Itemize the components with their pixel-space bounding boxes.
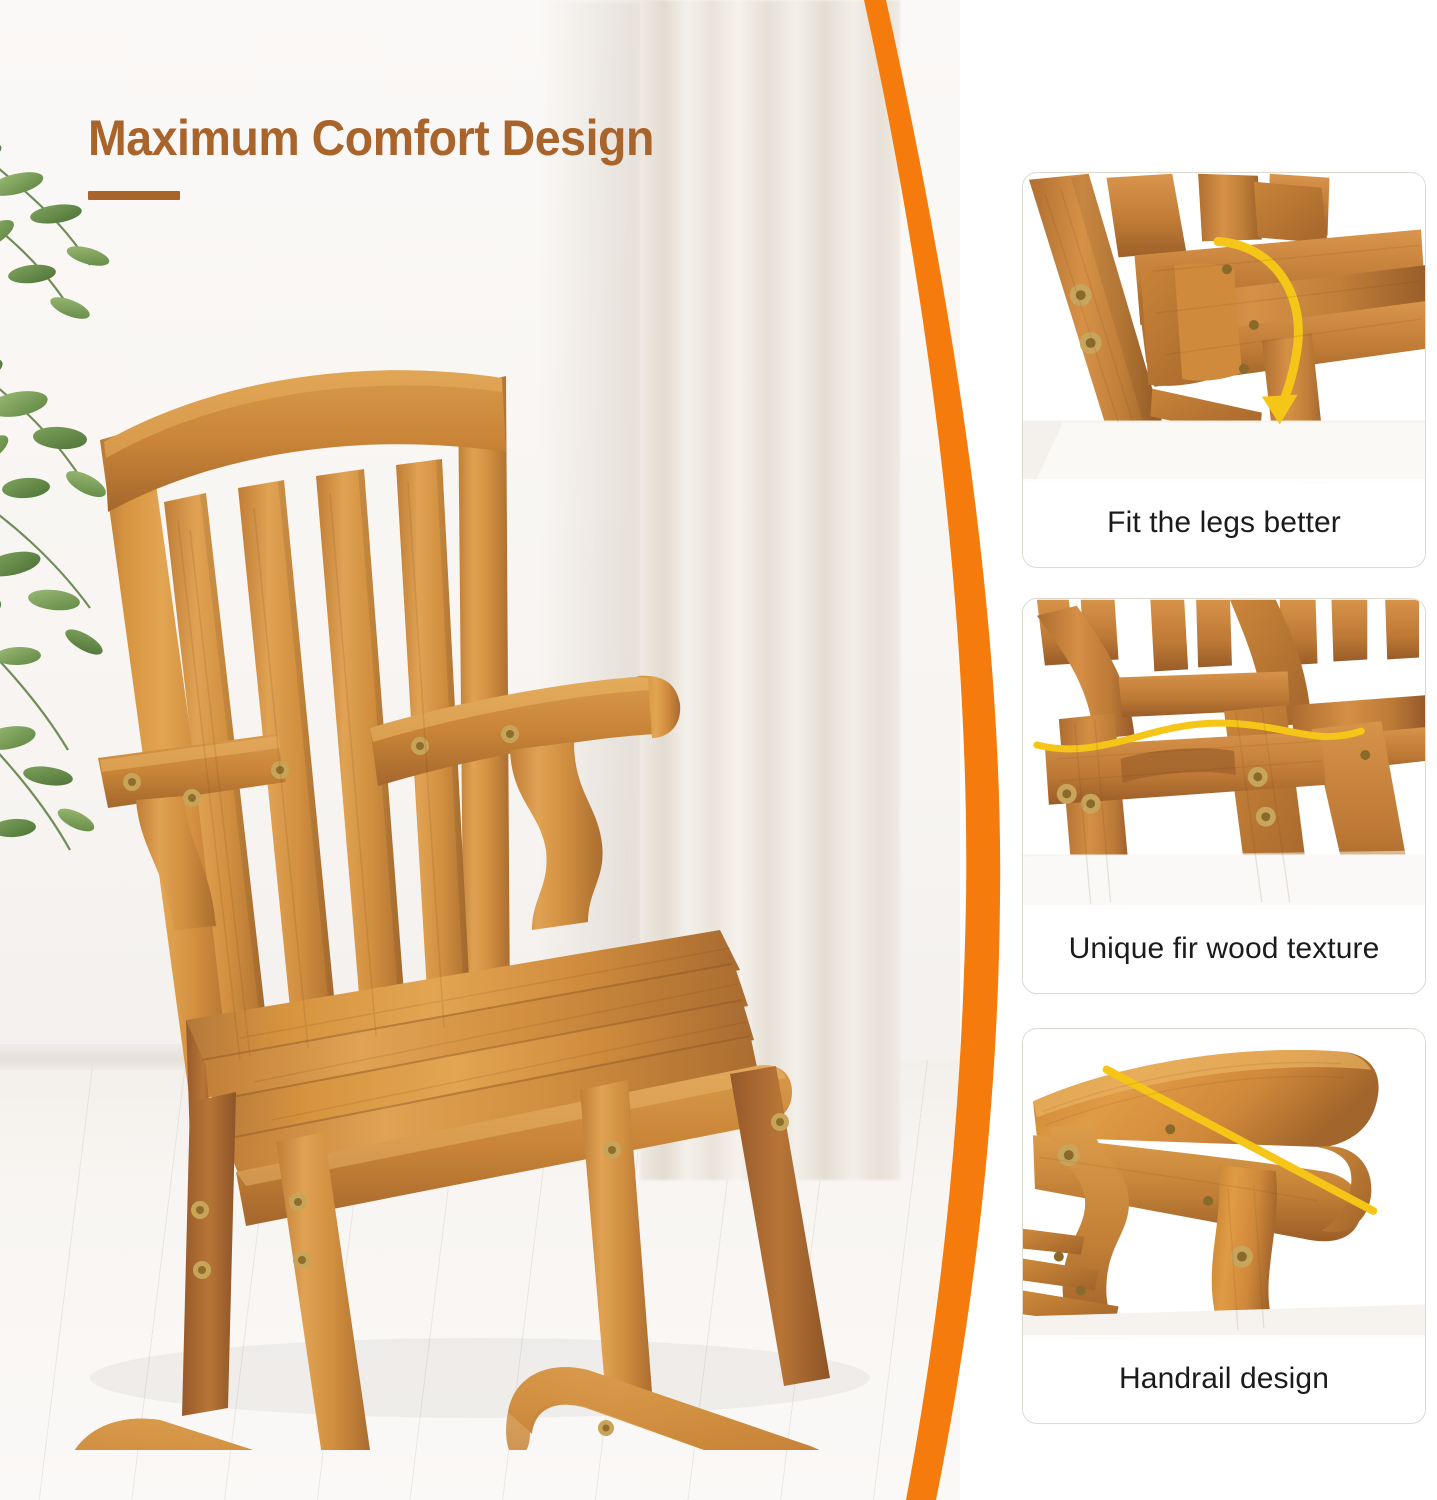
feature-card-handrail-design[interactable]: Handrail design <box>1022 1028 1426 1424</box>
card-photo-leg-joint <box>1023 173 1425 483</box>
card-caption-fit-the-legs-better: Fit the legs better <box>1023 479 1425 567</box>
feature-card-fit-the-legs-better[interactable]: Fit the legs better <box>1022 172 1426 568</box>
feature-card-unique-fir-wood-texture[interactable]: Unique fir wood texture <box>1022 598 1426 994</box>
card-photo-fir-wood-texture <box>1023 599 1425 909</box>
feature-card-column: Fit the legs better <box>1022 0 1426 1500</box>
product-feature-poster: Maximum Comfort Design <box>0 0 1437 1500</box>
orange-curve-divider <box>760 0 1020 1500</box>
card-photo-handrail <box>1023 1029 1425 1339</box>
title-block: Maximum Comfort Design <box>88 112 697 200</box>
card-caption-unique-fir-wood-texture: Unique fir wood texture <box>1023 905 1425 993</box>
title-underline-rule <box>88 191 180 200</box>
page-title: Maximum Comfort Design <box>88 112 654 165</box>
card-caption-handrail-design: Handrail design <box>1023 1335 1425 1423</box>
